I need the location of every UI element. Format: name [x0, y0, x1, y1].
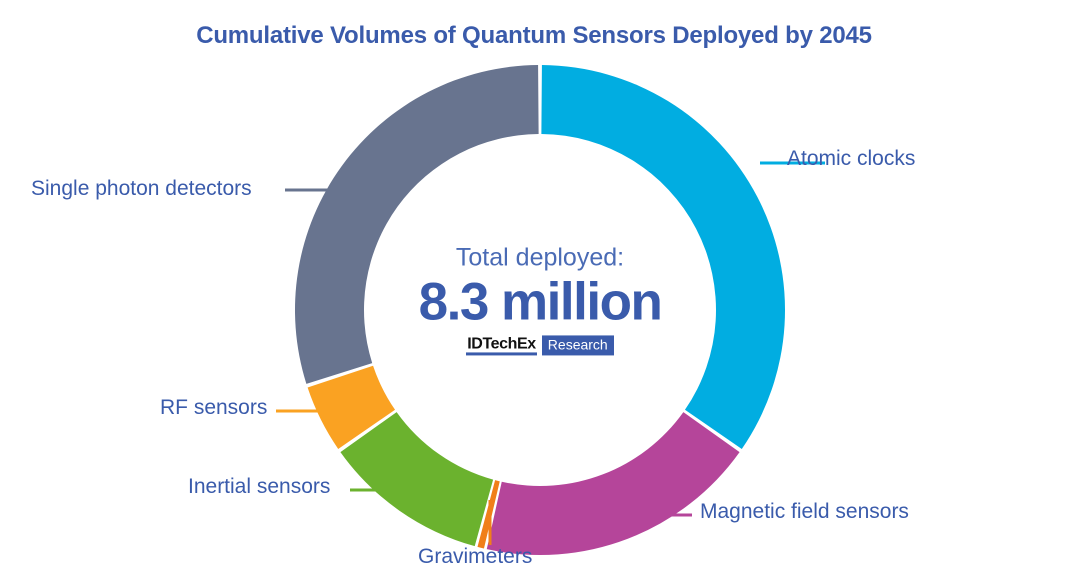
- slice-label-single-photon-detectors: Single photon detectors: [31, 177, 252, 201]
- donut-slice-group: [295, 65, 785, 555]
- slice-label-magnetic-field-sensors: Magnetic field sensors: [700, 500, 909, 524]
- donut-chart-svg: [0, 0, 1068, 580]
- donut-slice-atomic-clocks[interactable]: [541, 65, 785, 449]
- slice-label-atomic-clocks: Atomic clocks: [787, 147, 915, 171]
- donut-chart: Total deployed: 8.3 million IDTechEx Res…: [0, 0, 1068, 580]
- slice-label-inertial-sensors: Inertial sensors: [188, 475, 330, 499]
- donut-slice-single-photon-detectors[interactable]: [295, 65, 539, 384]
- slice-label-rf-sensors: RF sensors: [160, 396, 267, 420]
- donut-slice-magnetic-field-sensors[interactable]: [487, 412, 740, 555]
- donut-slice-inertial-sensors[interactable]: [340, 412, 493, 546]
- slice-label-gravimeters: Gravimeters: [418, 545, 532, 569]
